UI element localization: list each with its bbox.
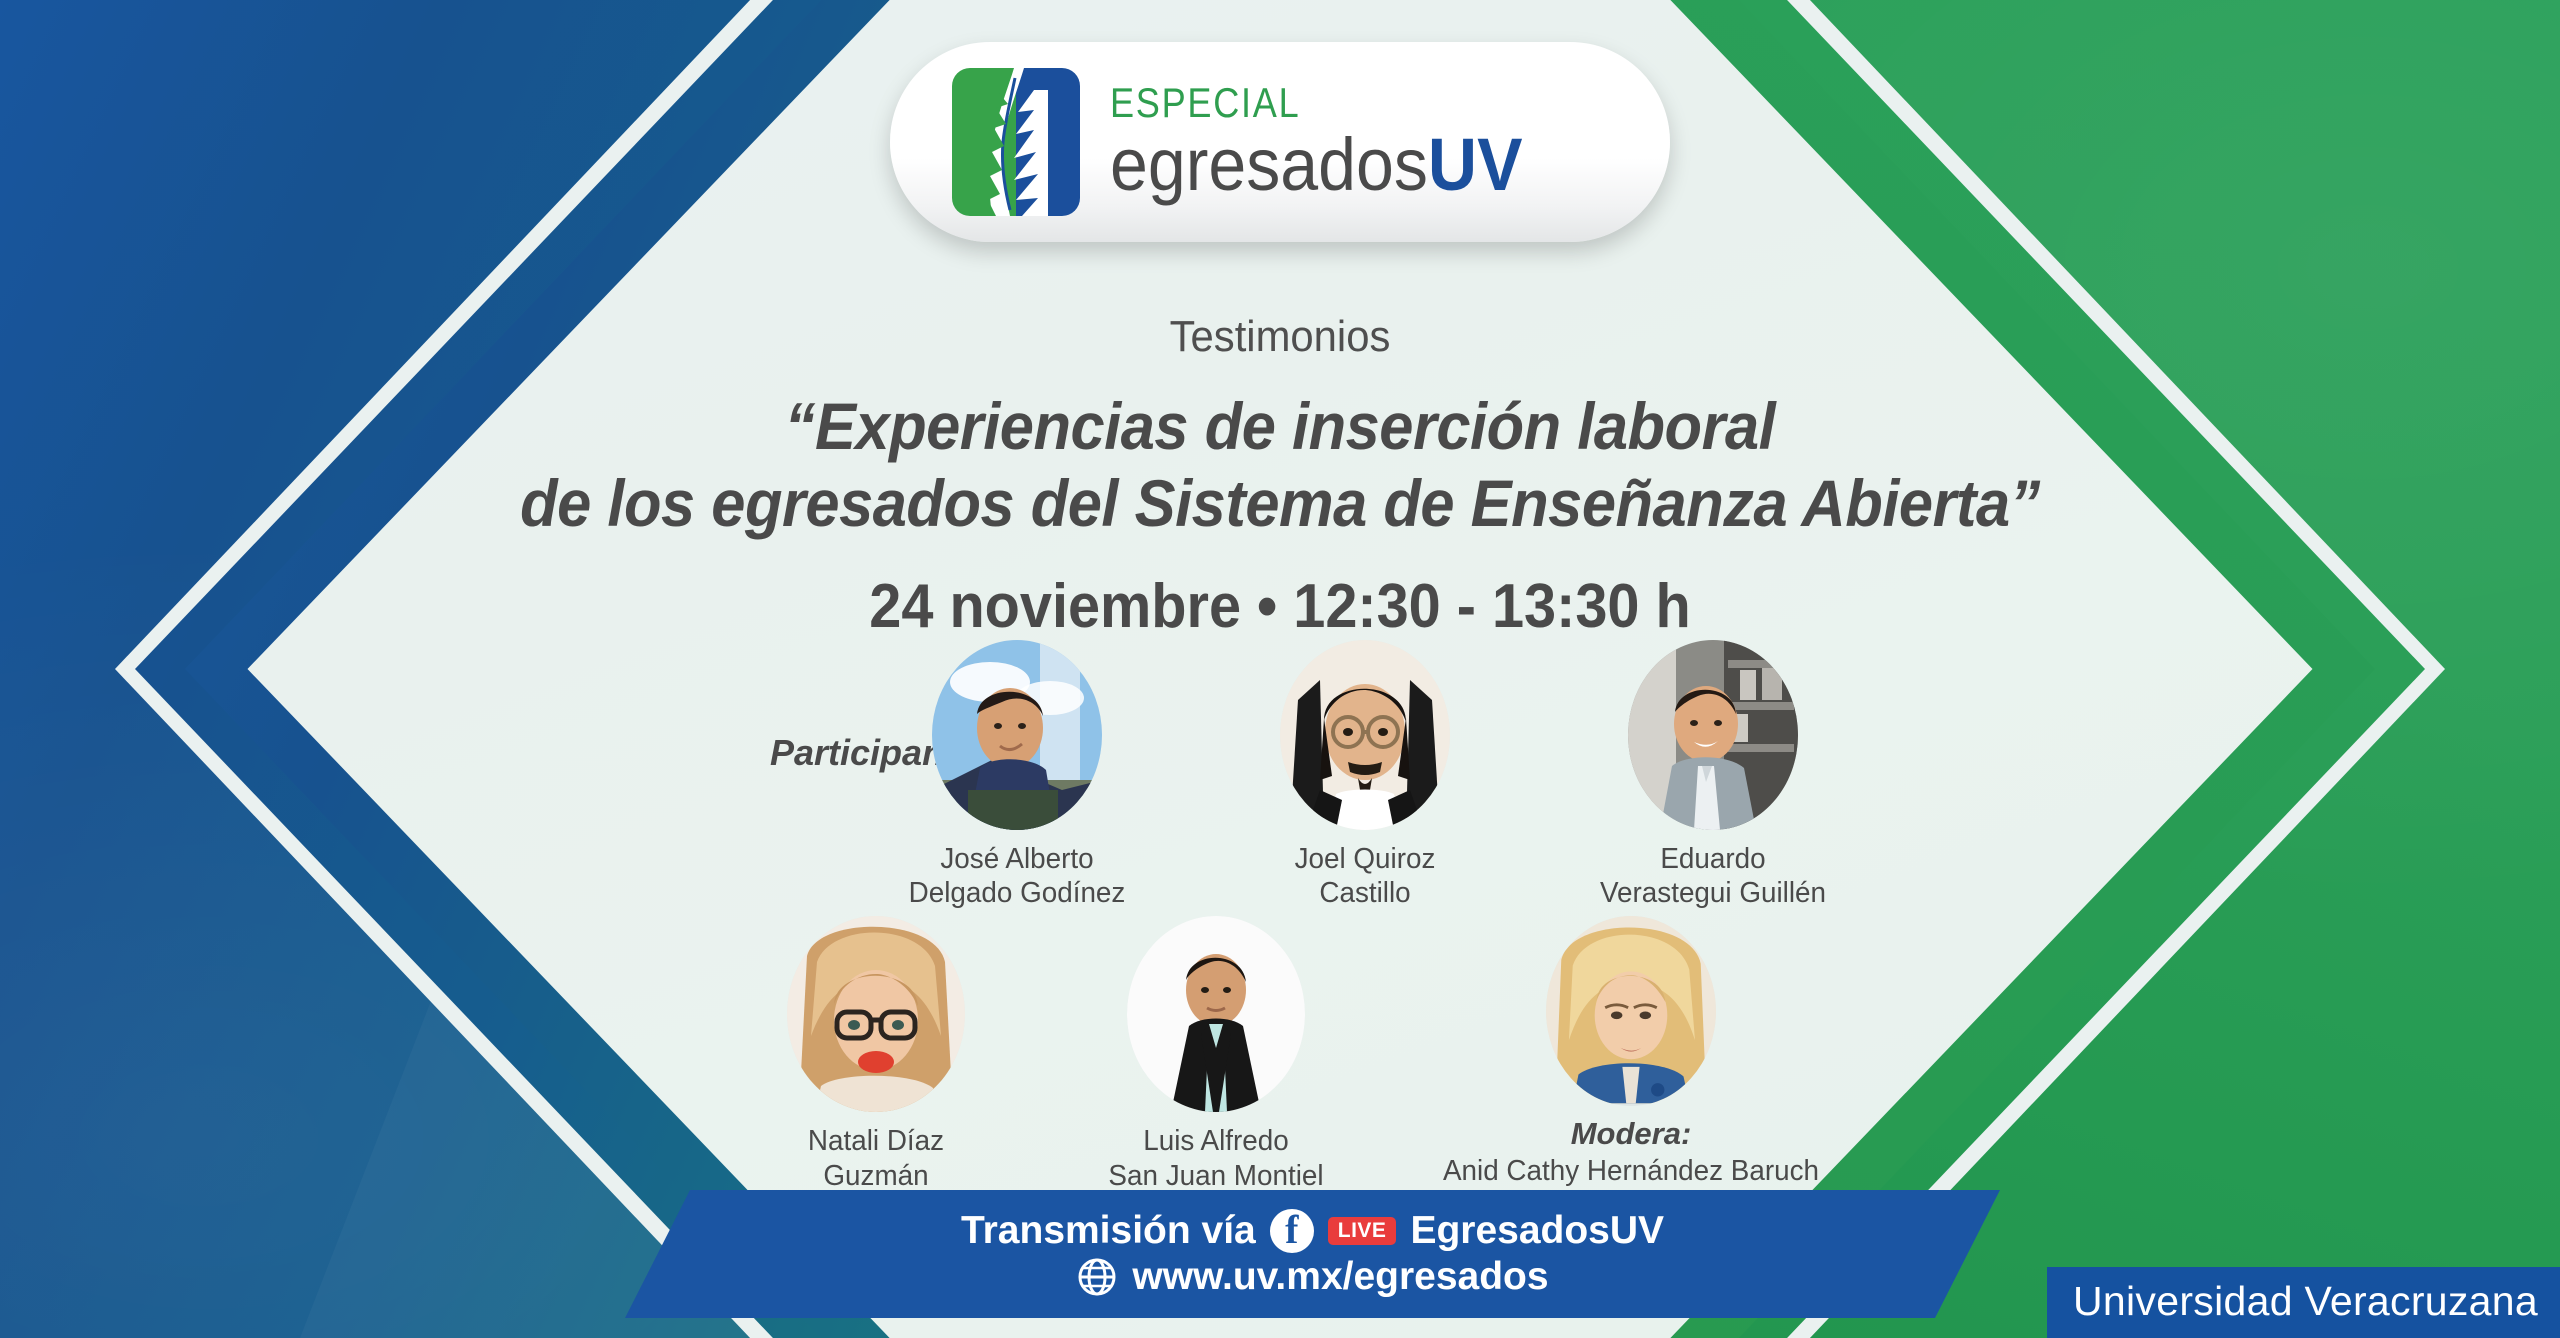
event-poster: ESPECIAL egresadosUV Testimonios “Experi… [0, 0, 2560, 1338]
website-line: www.uv.mx/egresados [1076, 1255, 1548, 1299]
speaker-card: Luis Alfredo San Juan Montiel [1081, 916, 1351, 1192]
event-title-line-2: de los egresados del Sistema de Enseñanz… [90, 465, 2471, 542]
facebook-channel-name[interactable]: EgresadosUV [1410, 1209, 1664, 1253]
transmission-content: Transmisión vía f LIVE EgresadosUV www.u… [690, 1190, 1935, 1318]
modera-label: Modera: [1421, 1116, 1841, 1152]
speaker-card: Eduardo Verastegui Guillén [1578, 640, 1848, 910]
speaker-name: Eduardo Verastegui Guillén [1583, 842, 1842, 910]
event-datetime: 24 noviembre • 12:30 - 13:30 h [90, 571, 2471, 642]
transmission-line: Transmisión vía f LIVE EgresadosUV [961, 1209, 1664, 1253]
facebook-icon[interactable]: f [1270, 1209, 1314, 1253]
speakers-row-1: José Alberto Delgado Godínez [0, 640, 2560, 910]
event-title-line-1: “Experiencias de inserción laboral [90, 388, 2471, 465]
speaker-name: José Alberto Delgado Godínez [887, 842, 1146, 910]
speakers-row-2: Natali Díaz Guzmán L [0, 916, 2560, 1192]
moderator-avatar [1546, 916, 1716, 1106]
event-title: “Experiencias de inserción laboral de lo… [90, 388, 2471, 541]
moderator-name: Anid Cathy Hernández Baruch [1429, 1154, 1832, 1188]
speaker-avatar [1280, 640, 1450, 830]
speaker-card: Natali Díaz Guzmán [741, 916, 1011, 1192]
headline-block: Testimonios “Experiencias de inserción l… [0, 0, 2560, 642]
speaker-name: Luis Alfredo San Juan Montiel [1086, 1124, 1345, 1192]
moderator-card: Modera: Anid Cathy Hernández Baruch [1421, 916, 1841, 1192]
university-badge: Universidad Veracruzana [2047, 1267, 2560, 1338]
speaker-name: Natali Díaz Guzmán [746, 1124, 1005, 1192]
speaker-avatar [787, 916, 965, 1112]
globe-icon [1076, 1256, 1118, 1298]
speaker-card: José Alberto Delgado Godínez [882, 640, 1152, 910]
speaker-card: Joel Quiroz Castillo [1230, 640, 1500, 910]
kicker-text: Testimonios [64, 312, 2496, 362]
speaker-avatar [1628, 640, 1798, 830]
speaker-avatar [1127, 916, 1305, 1112]
live-badge: LIVE [1328, 1217, 1397, 1245]
speaker-name: Joel Quiroz Castillo [1235, 842, 1494, 910]
website-url[interactable]: www.uv.mx/egresados [1132, 1255, 1548, 1299]
transmission-prefix-text: Transmisión vía [961, 1209, 1256, 1253]
speaker-avatar [932, 640, 1102, 830]
speakers-section: Participan: [0, 640, 2560, 1193]
